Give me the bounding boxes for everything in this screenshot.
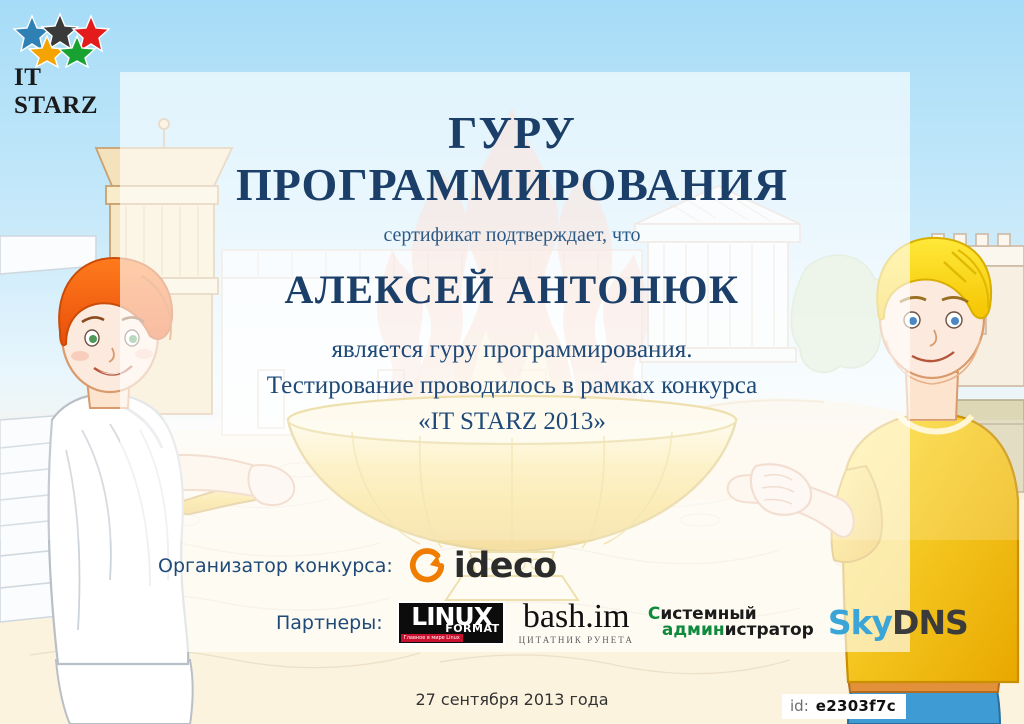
sistemny-administrator-logo: Системный администратор: [648, 606, 814, 639]
title-line-1: ГУРУ: [0, 106, 1024, 159]
sysadm-l1-accent: С: [648, 604, 660, 624]
body-line-2: Тестирование проводилось в рамках конкур…: [0, 372, 1024, 400]
confirm-text: сертификат подтверждает, что: [0, 224, 1024, 247]
recipient-name: АЛЕКСЕЙ АНТОНЮК: [0, 266, 1024, 313]
skydns-part-dns: DNS: [892, 603, 968, 642]
sysadm-l2-accent: админ: [662, 620, 725, 640]
id-label: id:: [790, 697, 809, 715]
partners-label: Партнеры:: [276, 612, 383, 634]
ideco-wordmark: ideco: [454, 546, 557, 586]
organizer-row: Организатор конкурса: ideco: [158, 546, 557, 586]
certificate-id-badge: id: e2303f7c: [782, 694, 906, 719]
bash-im-logo: bash.im ЦИТАТНИК РУНЕТА: [519, 600, 634, 645]
bash-im-tagline: ЦИТАТНИК РУНЕТА: [519, 635, 634, 645]
skydns-part-sky: Sky: [828, 603, 892, 642]
sysadm-l2-rest: истратор: [725, 620, 814, 640]
ideco-logo: ideco: [409, 546, 557, 586]
body-line-3: «IT STARZ 2013»: [0, 408, 1024, 436]
linux-format-logo: LINUX FORMAT Главное в мире Linux: [397, 601, 505, 645]
title-line-2: ПРОГРАММИРОВАНИЯ: [0, 158, 1024, 211]
organizer-label: Организатор конкурса:: [158, 555, 393, 577]
body-line-1: является гуру программирования.: [0, 336, 1024, 364]
id-value: e2303f7c: [816, 697, 896, 715]
skydns-logo: SkyDNS: [828, 606, 968, 639]
linux-format-tagline: Главное в мире Linux: [401, 634, 463, 642]
sysadm-line-2: администратор: [648, 622, 814, 639]
ideco-swirl-icon: [409, 547, 447, 585]
bash-im-wordmark: bash.im: [523, 600, 630, 634]
certificate-page: IT STARZ ГУРУ ПРОГРАММИРОВАНИЯ сертифика…: [0, 0, 1024, 724]
partners-row: Партнеры: LINUX FORMAT Главное в мире Li…: [276, 600, 968, 645]
